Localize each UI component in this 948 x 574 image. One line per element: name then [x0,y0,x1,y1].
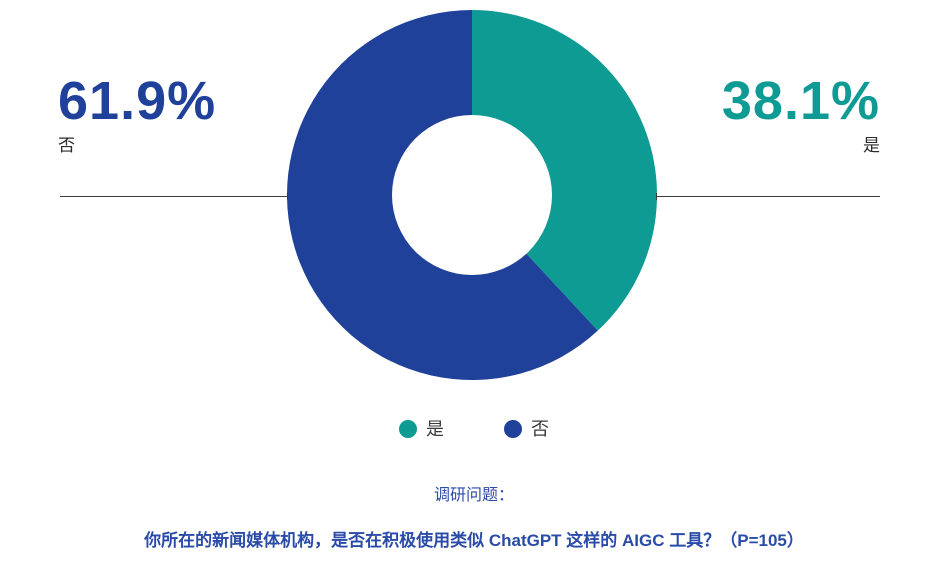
callout-yes-percent: 38.1% [650,72,880,130]
leader-cap-yes [656,193,657,200]
callout-no: 61.9% 否 [58,72,288,158]
leader-line-no [60,196,288,197]
donut-chart [287,10,657,380]
legend-label-no: 否 [531,418,549,440]
donut-hole [392,115,552,275]
chart-caption: 调研问题： 你所在的新闻媒体机构，是否在积极使用类似 ChatGPT 这样的 A… [0,484,948,554]
chart-legend: 是 否 [0,418,948,440]
legend-item-no[interactable]: 否 [504,418,549,440]
callout-yes: 38.1% 是 [650,72,880,158]
legend-item-yes[interactable]: 是 [399,418,444,440]
callout-no-label: 否 [58,134,288,158]
callout-no-percent: 61.9% [58,72,288,130]
leader-line-yes [656,196,880,197]
donut-svg [287,10,657,380]
legend-label-yes: 是 [426,418,444,440]
caption-question: 你所在的新闻媒体机构，是否在积极使用类似 ChatGPT 这样的 AIGC 工具… [0,528,948,554]
leader-cap-no [287,193,288,200]
callout-yes-label: 是 [650,134,880,158]
chart-canvas: 61.9% 否 38.1% 是 是 否 调研问题： 你所在的新闻媒体机构，是否在… [0,0,948,574]
caption-lead: 调研问题： [0,484,948,508]
legend-dot-no-icon [504,420,522,438]
legend-dot-yes-icon [399,420,417,438]
